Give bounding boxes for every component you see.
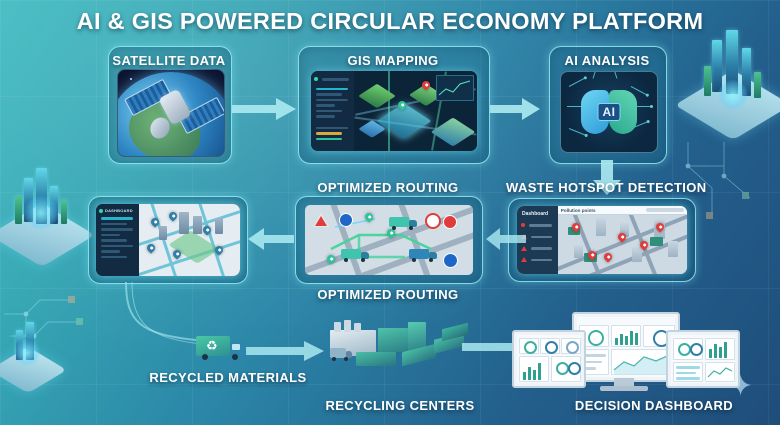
operations-app-screen[interactable]: DASHBOARD xyxy=(96,204,240,276)
arrow-routing-to-operations xyxy=(248,226,294,252)
info-sign-icon[interactable] xyxy=(339,213,353,227)
label-gis-mapping: GIS MAPPING xyxy=(298,53,488,68)
arrow-recycled-to-centers xyxy=(246,340,326,362)
ai-brain-visual: AI xyxy=(560,71,658,153)
panel-operations-dashboard[interactable]: DASHBOARD xyxy=(88,196,248,284)
gis-app-screen[interactable] xyxy=(311,71,477,151)
parking-sign-icon[interactable] xyxy=(443,253,458,268)
operations-nav-item[interactable] xyxy=(101,256,127,259)
gis-nav-item[interactable] xyxy=(316,104,335,107)
label-ai-analysis: AI ANALYSIS xyxy=(549,53,665,68)
page-title: AI & GIS POWERED CIRCULAR ECONOMY PLATFO… xyxy=(0,8,780,35)
label-waste-hotspot: WASTE HOTSPOT DETECTION xyxy=(506,180,698,195)
gis-sidebar[interactable] xyxy=(311,71,354,151)
panel-optimized-routing[interactable] xyxy=(295,196,483,284)
label-recycled-materials: RECYCLED MATERIALS xyxy=(148,370,308,385)
hotspot-alert-row[interactable] xyxy=(521,256,554,265)
gis-nav-item[interactable] xyxy=(316,93,342,96)
label-optimized-routing-bottom: OPTIMIZED ROUTING xyxy=(295,287,481,302)
operations-map-pin[interactable] xyxy=(146,242,157,253)
arrow-satellite-to-gis xyxy=(232,96,298,122)
gis-layer-tile xyxy=(358,84,396,108)
dashboard-left-monitor[interactable] xyxy=(512,330,586,388)
operations-nav-item[interactable] xyxy=(101,228,133,231)
infographic-canvas: AI & GIS POWERED CIRCULAR ECONOMY PLATFO… xyxy=(0,0,780,425)
label-satellite-data: SATELLITE DATA xyxy=(108,53,230,68)
label-optimized-routing-top: OPTIMIZED ROUTING xyxy=(295,180,481,195)
hotspot-app-screen[interactable]: Dashboard xyxy=(517,206,687,274)
routing-map[interactable] xyxy=(305,205,473,275)
waste-bin xyxy=(650,237,663,246)
operations-nav-item[interactable] xyxy=(101,245,133,248)
operations-nav-item[interactable] xyxy=(101,250,120,253)
operations-nav-item[interactable] xyxy=(101,239,127,242)
hotspot-search-field[interactable] xyxy=(646,208,684,212)
arrow-gis-to-ai xyxy=(490,96,542,122)
gis-app-logo xyxy=(314,75,351,84)
warning-sign-inner xyxy=(315,216,327,226)
gis-map-canvas[interactable] xyxy=(354,71,477,151)
operations-map-canvas[interactable] xyxy=(139,204,240,276)
operations-map-pin[interactable] xyxy=(168,210,179,221)
operations-nav-item[interactable] xyxy=(101,223,127,226)
operations-nav-item-active[interactable] xyxy=(101,217,133,220)
arrow-hotspot-to-routing xyxy=(486,226,526,252)
brain-icon: AI xyxy=(581,90,637,134)
no-entry-sign-icon[interactable] xyxy=(443,215,457,229)
operations-nav-item[interactable] xyxy=(101,234,120,237)
gis-nav-item[interactable] xyxy=(316,115,335,118)
hotspot-map-body[interactable]: Pollution points xyxy=(558,206,687,274)
operations-app-title: DASHBOARD xyxy=(99,208,136,213)
no-entry-sign-icon[interactable] xyxy=(425,213,441,229)
hotspot-content-title: Pollution points xyxy=(561,208,596,213)
hotspot-sidebar-title: Dashboard xyxy=(522,211,553,217)
recycling-symbol-icon: ♻ xyxy=(206,339,218,352)
hotspot-marker[interactable] xyxy=(602,251,613,262)
gis-inset-chart xyxy=(436,75,474,101)
label-decision-dashboard: DECISION DASHBOARD xyxy=(534,398,774,413)
label-recycling-centers: RECYCLING CENTERS xyxy=(310,398,490,413)
gis-nav-item-active[interactable] xyxy=(316,88,348,91)
gis-legend-item xyxy=(316,127,348,130)
operations-sidebar[interactable]: DASHBOARD xyxy=(96,204,139,276)
gis-legend-item xyxy=(316,132,342,135)
satellite-image xyxy=(117,69,225,157)
panel-waste-hotspot[interactable]: Dashboard xyxy=(508,198,696,282)
gis-nav-item[interactable] xyxy=(316,110,342,113)
ai-chip-label: AI xyxy=(598,103,621,121)
gis-nav-item[interactable] xyxy=(316,99,348,102)
dashboard-right-monitor[interactable] xyxy=(666,330,740,388)
dashboard-main-monitor[interactable] xyxy=(572,312,680,382)
gis-legend-item xyxy=(316,138,342,141)
